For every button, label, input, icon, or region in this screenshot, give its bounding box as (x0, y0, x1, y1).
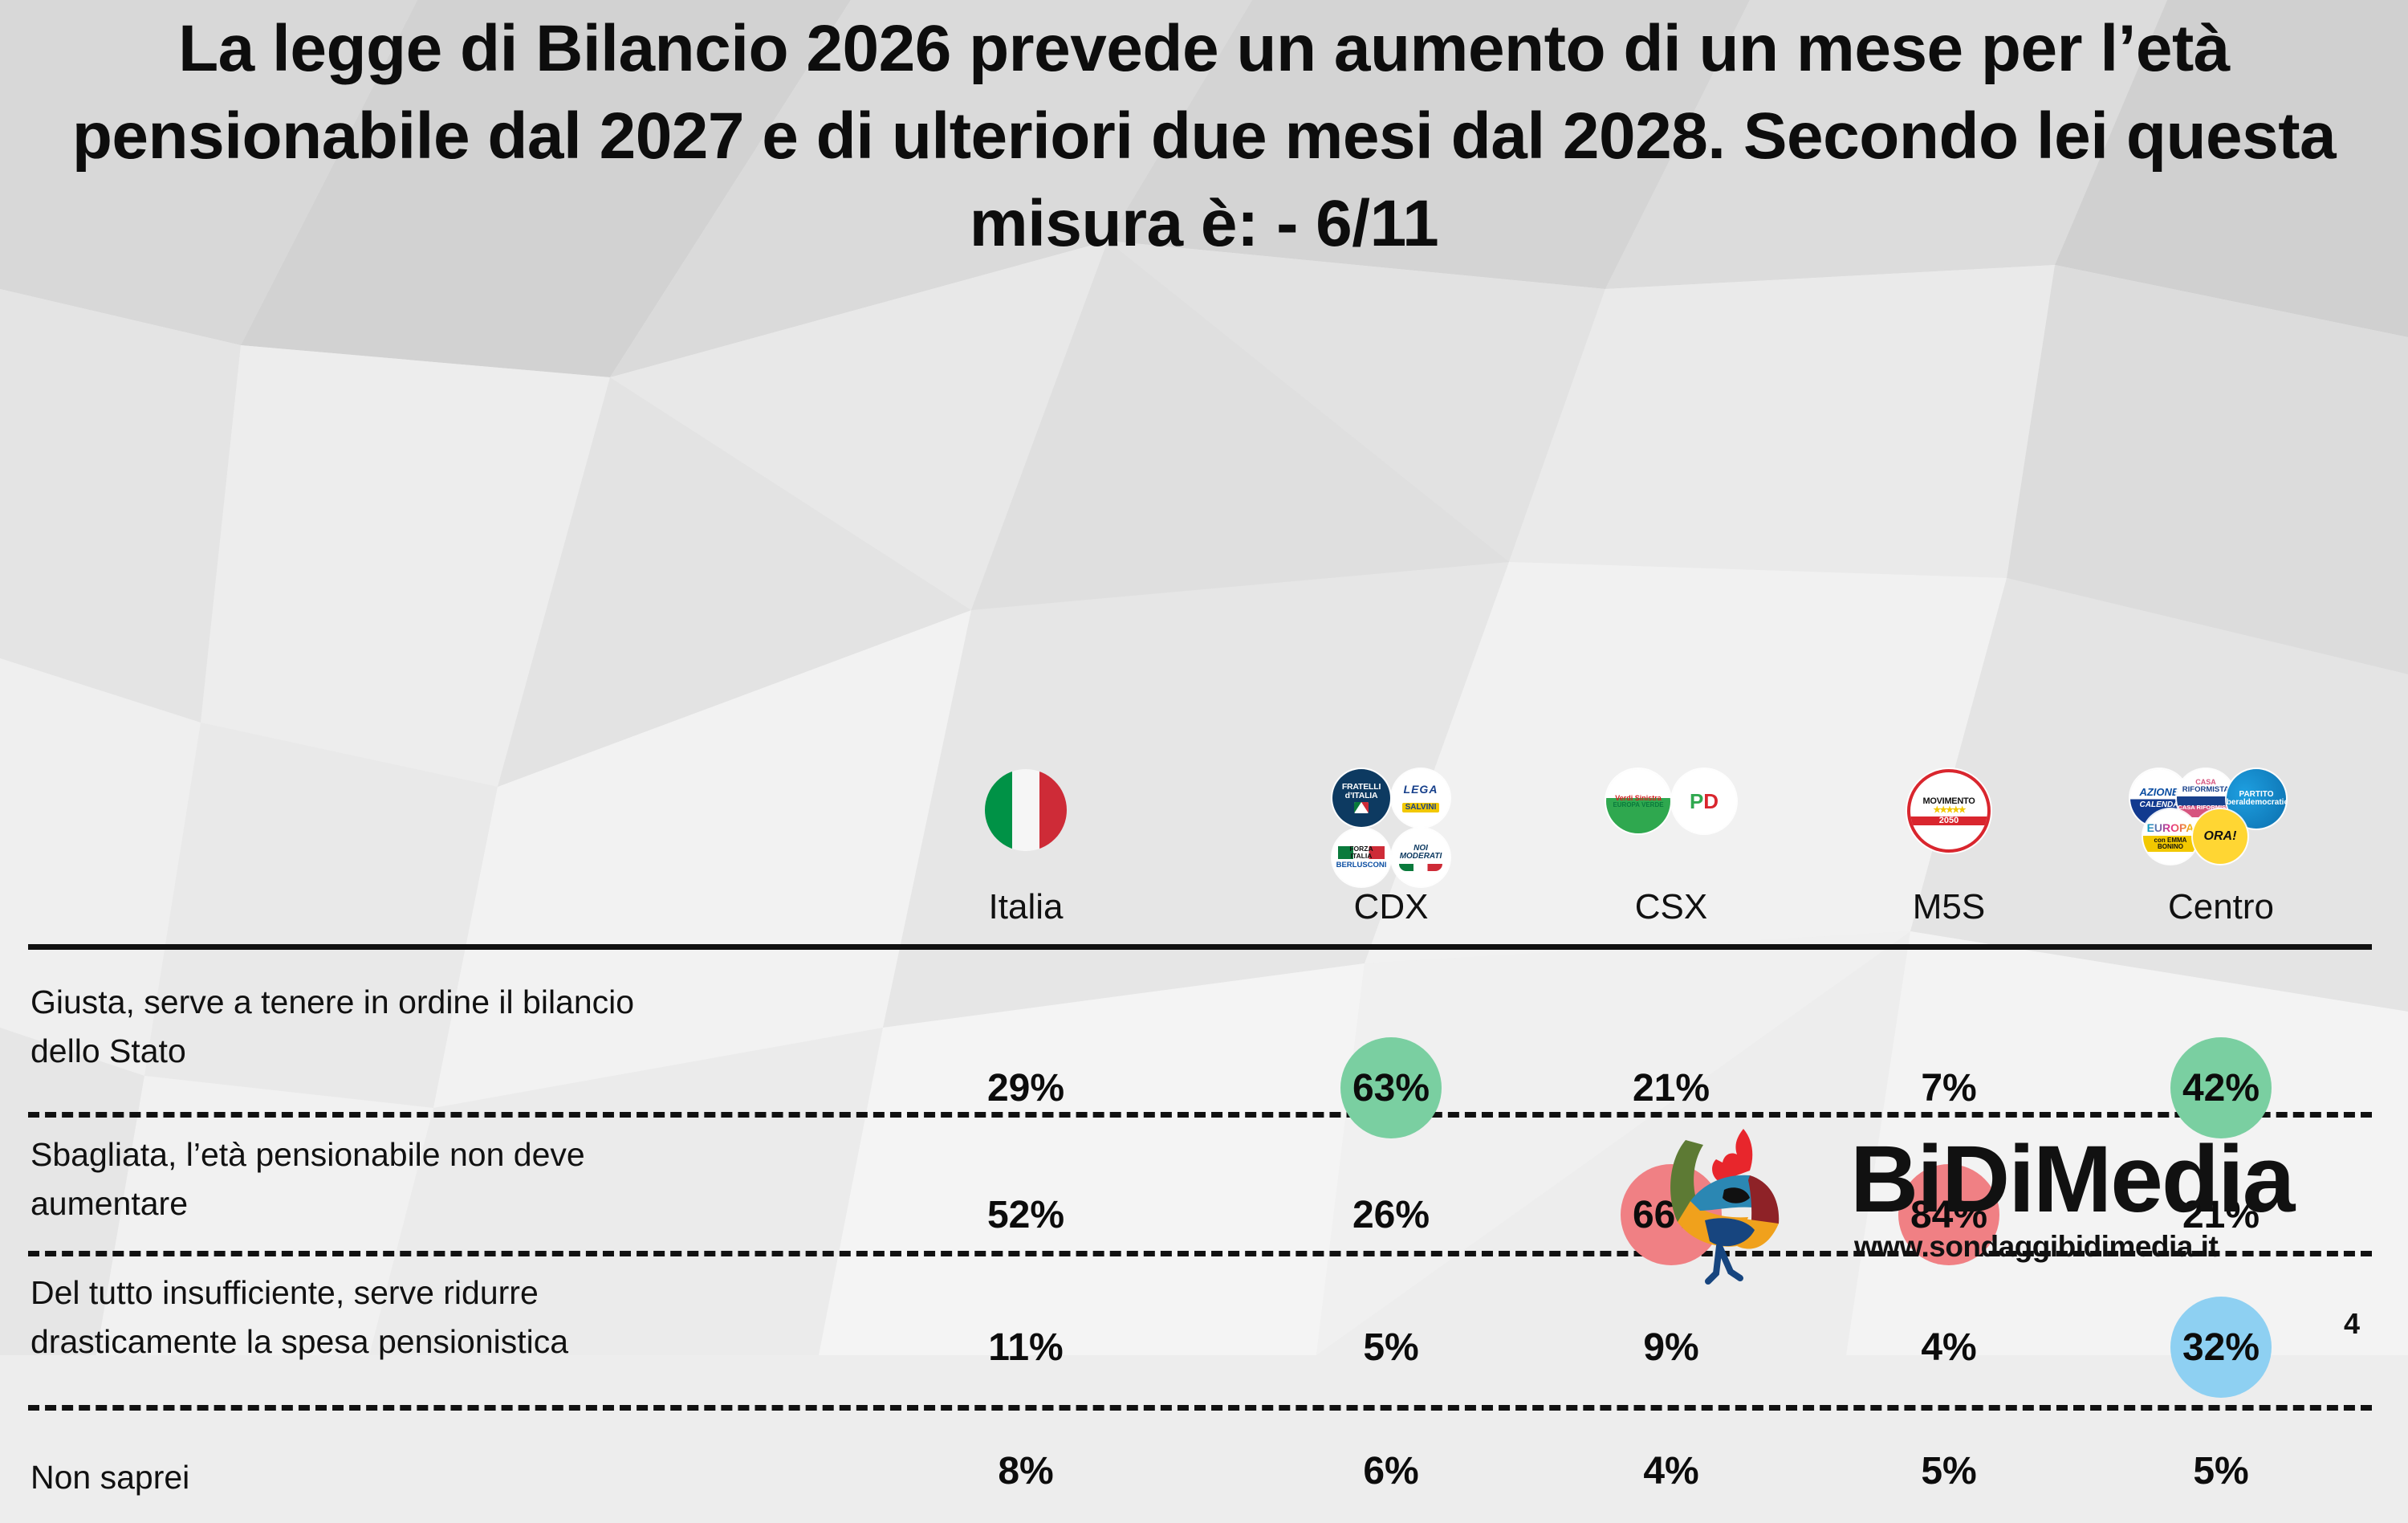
row-label-4: Non saprei (31, 1453, 929, 1502)
row-label-2-line1: Sbagliata, l’età pensionabile non deve (31, 1130, 929, 1179)
brand-name: BiDiMedia (1850, 1132, 2293, 1227)
brand-url: www.sondaggibidimedia.it (1854, 1230, 2218, 1264)
row-divider-3 (28, 1405, 2372, 1411)
azione-line1: AZIONE (2139, 787, 2178, 797)
row-label-3: Del tutto insufficiente, serve ridurre d… (31, 1268, 929, 1366)
cell-italia-row4: 8% (950, 1419, 1102, 1523)
fdi-flame-icon (1354, 802, 1369, 813)
rooster-logo-icon (1653, 1124, 1846, 1297)
eu-line1: EUROPA (2147, 822, 2194, 833)
m5s-stars-icon: ★★★★★ (1933, 806, 1964, 815)
m5s-year: 2050 (1910, 816, 1987, 825)
row-label-1: Giusta, serve a tenere in ordine il bila… (31, 978, 929, 1075)
cell-csx-row3: 9% (1595, 1295, 1747, 1399)
row-label-3-line1: Del tutto insufficiente, serve ridurre (31, 1268, 929, 1317)
column-logo-centro: AZIONE CALENDA CASA RIFORMISTA CASA RIFO… (2129, 769, 2313, 862)
avs-line2: EUROPA VERDE (1613, 802, 1663, 808)
cell-centro-row3: 32% (2170, 1297, 2272, 1398)
page-number: 4 (2344, 1307, 2360, 1341)
cell-m5s-row4: 5% (1873, 1419, 2025, 1523)
row-label-2: Sbagliata, l’età pensionabile non deve a… (31, 1130, 929, 1228)
column-header-m5s: M5S (1913, 887, 1985, 927)
m5s-icon: MOVIMENTO ★★★★★ 2050 (1907, 769, 1991, 853)
column-logo-csx: Verdi Sinistra EUROPA VERDE P D (1606, 769, 1736, 833)
row-label-4-line1: Non saprei (31, 1453, 929, 1502)
cell-cdx-row1: 63% (1340, 1037, 1442, 1138)
cr-line2: RIFORMISTA (2182, 786, 2229, 794)
fi-band: FORZA ITALIA (1338, 846, 1385, 859)
lega-salvini-icon: LEGA SALVINI (1392, 769, 1450, 827)
fdi-line2: d’ITALIA (1345, 792, 1378, 800)
azione-line2: CALENDA (2140, 801, 2179, 809)
pld-line2: Liberaldemocratico (2227, 799, 2286, 807)
lega-line2: SALVINI (1402, 803, 1440, 812)
column-logo-italia (985, 769, 1067, 851)
nm-text: NOI MODERATI (1392, 845, 1450, 861)
noi-moderati-icon: NOI MODERATI (1392, 829, 1450, 886)
cell-cdx-row3: 5% (1315, 1295, 1467, 1399)
avs-icon: Verdi Sinistra EUROPA VERDE (1606, 769, 1670, 833)
forza-italia-icon: FORZA ITALIA BERLUSCONI (1332, 829, 1390, 886)
pd-d: D (1703, 791, 1719, 812)
cell-centro-row4: 5% (2145, 1419, 2297, 1523)
eu-line2: con EMMA BONINO (2143, 836, 2198, 852)
cell-italia-row1: 29% (950, 1036, 1102, 1140)
row-label-1-line1: Giusta, serve a tenere in ordine il bila… (31, 978, 929, 1027)
piu-europa-icon: EUROPA con EMMA BONINO (2143, 809, 2198, 864)
cell-cdx-row2: 26% (1315, 1163, 1467, 1267)
fi-berlusconi: BERLUSCONI (1336, 861, 1387, 869)
column-header-centro: Centro (2168, 887, 2274, 927)
column-header-italia: Italia (989, 887, 1064, 927)
results-table: FRATELLI d’ITALIA LEGA SALVINI FORZA ITA… (0, 369, 2408, 1092)
pd-p: P (1690, 791, 1703, 812)
column-header-csx: CSX (1635, 887, 1707, 927)
m5s-word: MOVIMENTO (1923, 797, 1975, 806)
lega-line1: LEGA (1404, 784, 1438, 795)
cell-m5s-row3: 4% (1873, 1295, 2025, 1399)
row-label-3-line2: drasticamente la spesa pensionistica (31, 1317, 929, 1366)
fratelli-italia-icon: FRATELLI d’ITALIA (1332, 769, 1390, 827)
column-header-cdx: CDX (1354, 887, 1429, 927)
cell-cdx-row4: 6% (1315, 1419, 1467, 1523)
bidimedia-logo: BiDiMedia www.sondaggibidimedia.it (1653, 1124, 2360, 1297)
italian-flag-icon (985, 769, 1067, 851)
cell-italia-row3: 11% (950, 1295, 1102, 1399)
column-logo-cdx: FRATELLI d’ITALIA LEGA SALVINI FORZA ITA… (1332, 769, 1450, 886)
row-label-2-line2: aumentare (31, 1179, 929, 1228)
ora-text: ORA! (2204, 830, 2237, 843)
column-logo-m5s: MOVIMENTO ★★★★★ 2050 (1907, 769, 1991, 853)
header-divider (28, 944, 2372, 950)
page-title: La legge di Bilancio 2026 prevede un aum… (0, 5, 2408, 267)
ora-icon: ORA! (2193, 809, 2247, 864)
cell-csx-row4: 4% (1595, 1419, 1747, 1523)
row-label-1-line2: dello Stato (31, 1027, 929, 1076)
row-divider-1 (28, 1112, 2372, 1118)
fdi-line1: FRATELLI (1342, 783, 1381, 792)
cell-italia-row2: 52% (950, 1163, 1102, 1267)
partito-democratico-icon: P D (1672, 769, 1736, 833)
nm-wave-icon (1399, 864, 1442, 871)
